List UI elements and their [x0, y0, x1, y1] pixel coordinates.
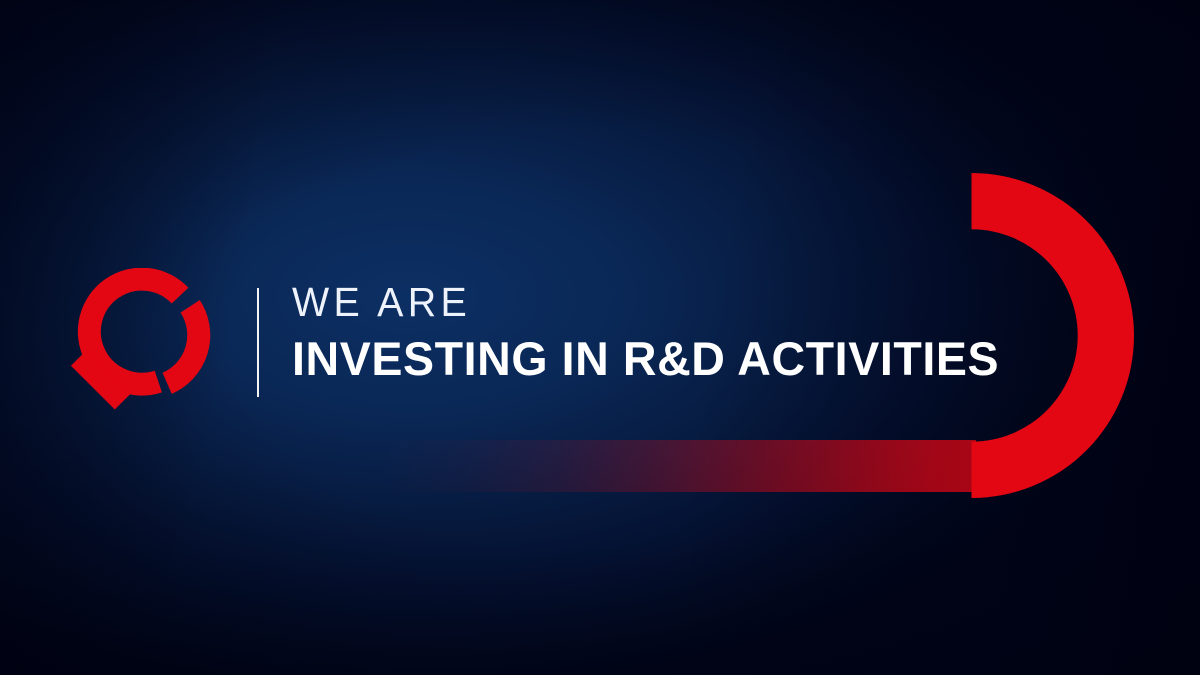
promotional-banner: WE ARE INVESTING IN R&D ACTIVITIES [0, 0, 1200, 675]
page-title: INVESTING IN R&D ACTIVITIES [292, 331, 1025, 387]
eyebrow-text: WE ARE [292, 279, 1002, 325]
magnifier-icon [62, 268, 226, 414]
vertical-divider-rule [257, 288, 259, 397]
headline-text-block: WE ARE INVESTING IN R&D ACTIVITIES [292, 279, 1032, 387]
